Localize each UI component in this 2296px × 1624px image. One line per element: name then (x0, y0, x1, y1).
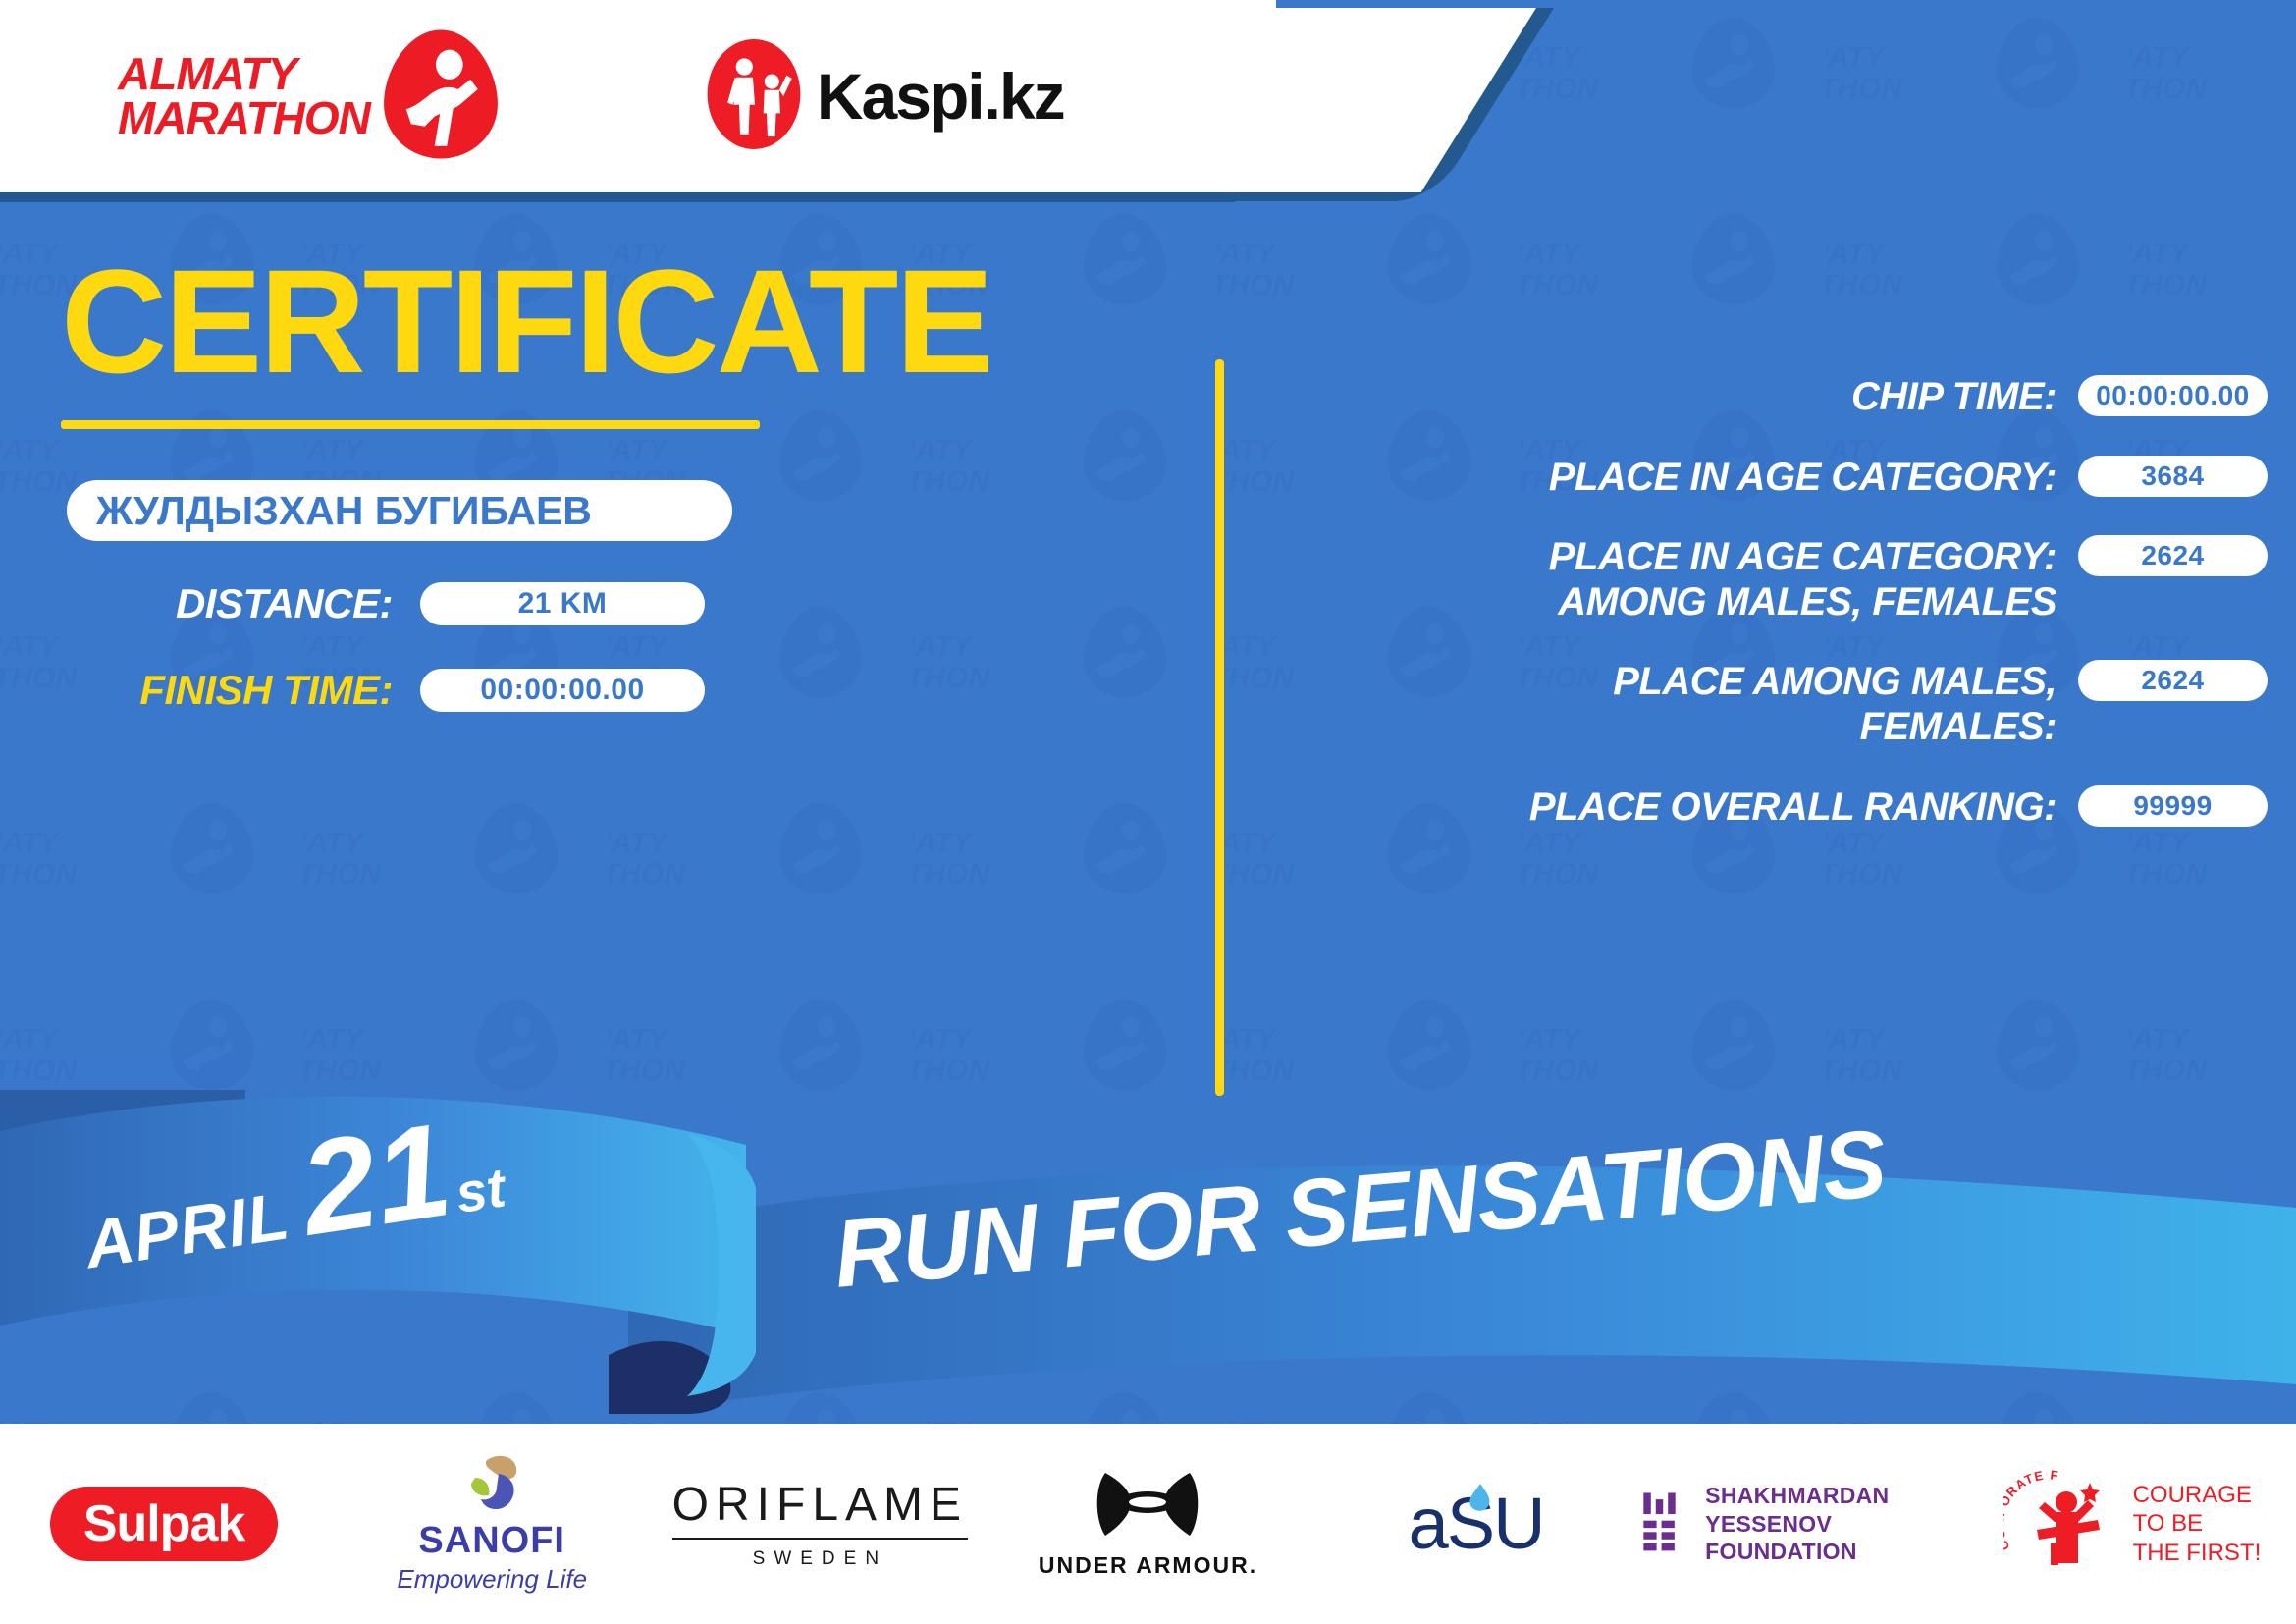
sanofi-mark-icon (454, 1454, 530, 1515)
under-armour-mark-icon (1094, 1469, 1201, 1542)
yessenov-mark-icon (1640, 1485, 1685, 1563)
almaty-logo-line1: ALMATY (118, 52, 370, 96)
under-armour-logo: UNDER ARMOUR. (1039, 1469, 1257, 1579)
result-value-pill: 3684 (2078, 456, 2268, 497)
finish-time-value-pill: 00:00:00.00 (420, 669, 705, 712)
result-value-pill: 2624 (2078, 535, 2268, 576)
yessenov-wordmark: SHAKHMARDAN YESSENOVFOUNDATION (1705, 1482, 1968, 1566)
left-column: CERTIFICATE ЖУЛДЫЗХАН БУГИБАЕВ DISTANCE:… (0, 196, 1217, 714)
courage-fund-mark-icon: CORPORATE FUND (2003, 1469, 2121, 1579)
result-value-pill: 00:00:00.00 (2078, 375, 2268, 416)
sanofi-logo: SANOFI Empowering Life (397, 1454, 587, 1595)
result-row-place-age-category-gender: PLACE IN AGE CATEGORY:AMONG MALES, FEMAL… (1276, 533, 2268, 624)
sulpak-logo: Sulpak (50, 1487, 279, 1561)
title-underline (61, 420, 760, 429)
sponsor-courage-fund: CORPORATE FUND COURAGETO BETHE FIRST! (1968, 1469, 2296, 1579)
event-date-day: 21 (294, 1110, 456, 1249)
oriflame-tagline: SWEDEN (672, 1548, 968, 1570)
participant-name-field: ЖУЛДЫЗХАН БУГИБАЕВ (67, 480, 732, 541)
result-value-pill: 99999 (2078, 785, 2268, 827)
certificate-canvas: ALMATY MARATHON (0, 0, 2296, 1624)
distance-value-pill: 21 KM (420, 582, 705, 625)
sponsor-sanofi: SANOFI Empowering Life (328, 1454, 656, 1595)
almaty-marathon-logo: ALMATY MARATHON (118, 27, 504, 166)
sponsor-under-armour: UNDER ARMOUR. (984, 1469, 1311, 1579)
result-value: 99999 (2133, 790, 2212, 822)
result-row-place-age-category: PLACE IN AGE CATEGORY: 3684 (1276, 454, 2268, 501)
distance-label: DISTANCE: (0, 580, 393, 627)
almaty-runner-icon (378, 27, 504, 166)
result-value: 00:00:00.00 (2096, 380, 2250, 411)
result-value-pill: 2624 (2078, 660, 2268, 701)
sanofi-wordmark: SANOFI (397, 1520, 587, 1562)
event-date-suffix: st (452, 1155, 509, 1225)
kaspi-logo: Kaspi.kz (705, 39, 1064, 154)
courage-fund-wordmark: COURAGETO BETHE FIRST! (2133, 1481, 2262, 1567)
header-logos: ALMATY MARATHON (0, 0, 1217, 192)
almaty-logo-line2: MARATHON (118, 96, 370, 140)
finish-time-label: FINISH TIME: (0, 667, 393, 714)
finish-time-value: 00:00:00.00 (480, 674, 644, 707)
distance-value: 21 KM (518, 587, 608, 621)
participant-name-value: ЖУЛДЫЗХАН БУГИБАЕВ (96, 488, 592, 534)
result-value: 3684 (2141, 460, 2204, 492)
result-label: CHIP TIME: (1276, 373, 2078, 420)
result-value: 2624 (2141, 665, 2204, 696)
kaspi-wordmark: Kaspi.kz (817, 59, 1064, 134)
under-armour-wordmark: UNDER ARMOUR. (1039, 1552, 1257, 1579)
asu-logo: aSU (1409, 1488, 1544, 1560)
result-label: PLACE OVERALL RANKING: (1276, 784, 2078, 831)
sponsor-yessenov-foundation: SHAKHMARDAN YESSENOVFOUNDATION (1640, 1482, 1968, 1566)
distance-row: DISTANCE: 21 KM (0, 580, 1217, 627)
sponsors-bar: Sulpak SANOFI Empowering Life ORIFLAME S… (0, 1424, 2296, 1624)
result-value: 2624 (2141, 540, 2204, 571)
result-label: PLACE AMONG MALES,FEMALES: (1276, 658, 2078, 749)
sponsor-oriflame: ORIFLAME SWEDEN (656, 1478, 984, 1570)
oriflame-wordmark: ORIFLAME (672, 1478, 968, 1540)
result-label: PLACE IN AGE CATEGORY:AMONG MALES, FEMAL… (1276, 533, 2078, 624)
oriflame-logo: ORIFLAME SWEDEN (672, 1478, 968, 1570)
result-row-chip-time: CHIP TIME: 00:00:00.00 (1276, 373, 2268, 420)
sulpak-wordmark: Sulpak (83, 1495, 245, 1552)
results-column: CHIP TIME: 00:00:00.00 PLACE IN AGE CATE… (1276, 373, 2268, 863)
result-row-place-overall: PLACE OVERALL RANKING: 99999 (1276, 784, 2268, 831)
courage-fund-logo: CORPORATE FUND COURAGETO BETHE FIRST! (2003, 1469, 2262, 1579)
result-row-place-among-gender: PLACE AMONG MALES,FEMALES: 2624 (1276, 658, 2268, 749)
header-shadow-bar (0, 192, 1235, 202)
sponsor-sulpak: Sulpak (0, 1487, 328, 1561)
kaspi-people-icon (705, 39, 803, 154)
almaty-marathon-wordmark: ALMATY MARATHON (118, 52, 370, 140)
sponsor-asu: aSU (1312, 1488, 1640, 1560)
yessenov-logo: SHAKHMARDAN YESSENOVFOUNDATION (1640, 1482, 1968, 1566)
result-label: PLACE IN AGE CATEGORY: (1276, 454, 2078, 501)
sanofi-tagline: Empowering Life (397, 1564, 587, 1595)
asu-droplet-icon (1468, 1484, 1493, 1513)
page-title: CERTIFICATE (61, 247, 1217, 395)
finish-time-row: FINISH TIME: 00:00:00.00 (0, 667, 1217, 714)
